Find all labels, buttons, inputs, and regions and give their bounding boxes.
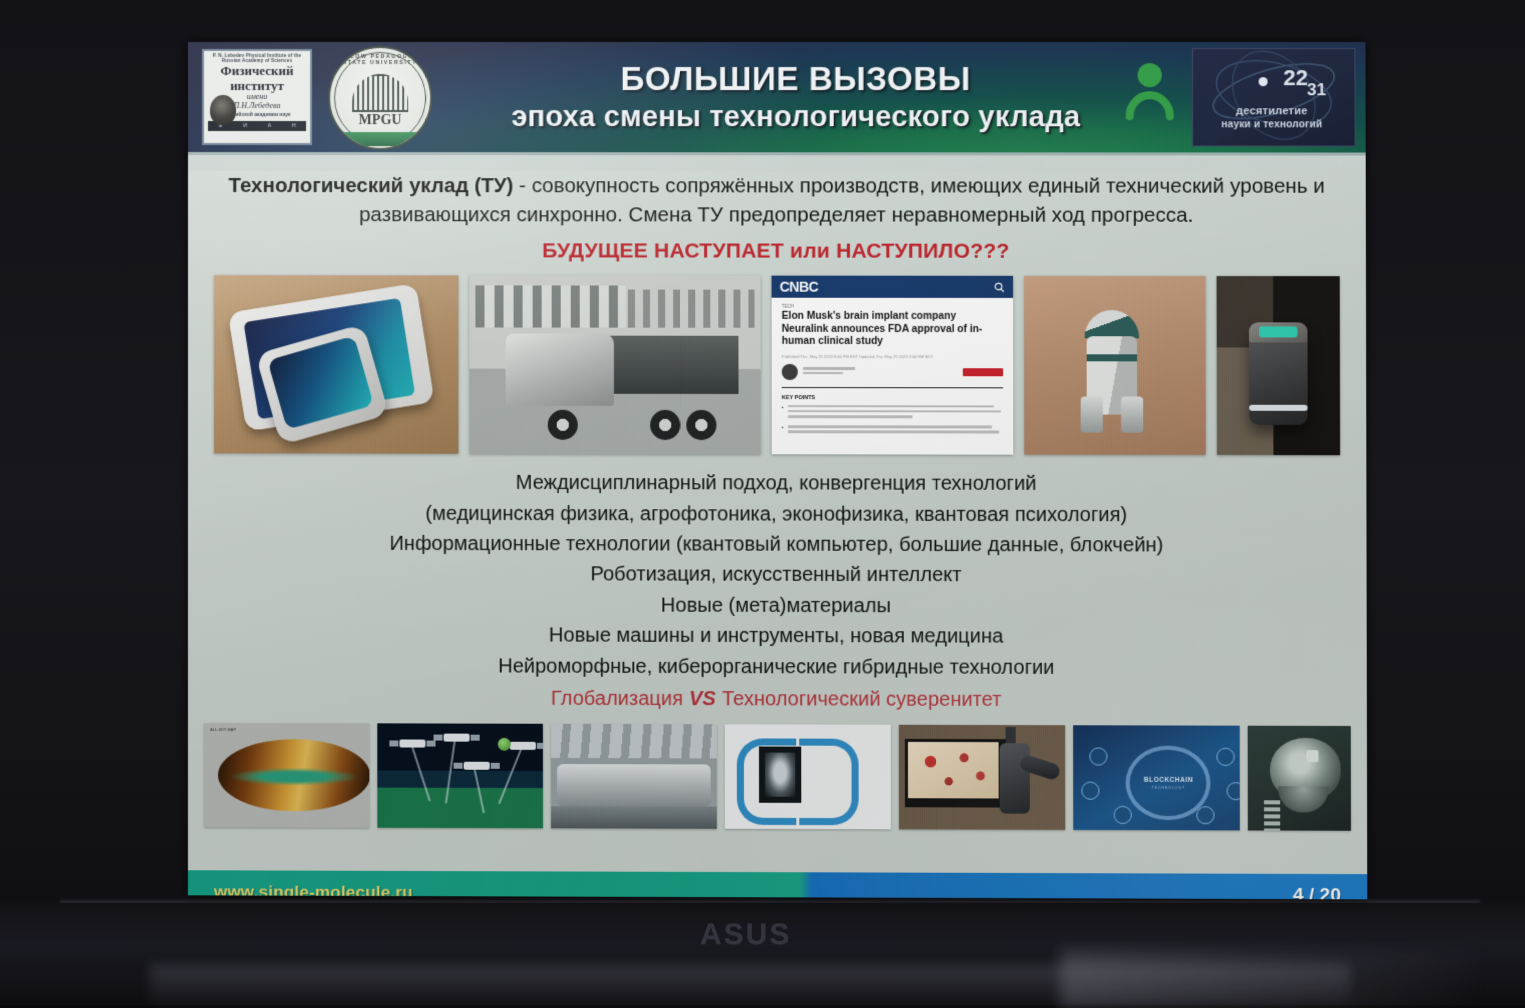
- fian-logo-word3: имени: [247, 92, 268, 101]
- factory-floor: [551, 807, 717, 830]
- truck-cargo-bed: [608, 336, 739, 394]
- slide-page-number: 4 / 20: [1293, 885, 1341, 899]
- building-window-left: [475, 286, 626, 328]
- satellite-network-image: [377, 724, 543, 829]
- cnbc-author-line-2: [803, 372, 843, 375]
- blockchain-subtitle: TECHNOLOGY: [1152, 786, 1185, 790]
- list-item: Нейроморфные, киберорганические гибридны…: [188, 650, 1367, 683]
- autonomous-truck-photo: [469, 276, 760, 455]
- blockchain-node-icon-6: [1197, 806, 1215, 824]
- mpgu-logo-ribbon: [344, 132, 416, 146]
- brain-implant-chip-icon: [1307, 750, 1319, 762]
- blockchain-node-icon-4: [1227, 782, 1240, 800]
- factory-assembly-line-image: [551, 724, 717, 829]
- bullet-dot-icon: ▪: [782, 405, 784, 421]
- fian-logo-word1: Физический: [221, 64, 294, 78]
- top-image-strip: CNBC TECH Elon Musk's brain implant comp…: [188, 275, 1366, 455]
- r2d2-stripe: [1087, 355, 1137, 362]
- skull-spine: [1264, 801, 1280, 831]
- robot-light-strip: [1249, 405, 1308, 411]
- cnbc-logo: CNBC: [780, 279, 819, 295]
- decade-logo-line1: десятилетие: [1193, 105, 1350, 117]
- r2d2-robot-photo: [1024, 276, 1206, 455]
- cnbc-site-header: CNBC: [772, 276, 1013, 298]
- cnbc-timestamp: Published Thu, May 25 2023 8:46 PM EDT U…: [782, 353, 1003, 358]
- slide-title-block: БОЛЬШИЕ ВЫЗОВЫ эпоха смены технологическ…: [438, 61, 1154, 133]
- person-icon: [1125, 60, 1173, 120]
- cnbc-key-point-1: ▪: [782, 405, 1003, 421]
- blockchain-title: BLOCKCHAIN: [1144, 777, 1193, 784]
- cnbc-author-name-block: [803, 367, 958, 376]
- factory-roof: [551, 724, 717, 759]
- asus-brand-logo: ASUS: [700, 918, 840, 958]
- future-question-text: БУДУЩЕЕ НАСТУПАЕТ или НАСТУПИЛО???: [188, 239, 1366, 264]
- watch-live-badge[interactable]: [963, 368, 1003, 376]
- decade-year-end: 31: [1307, 80, 1326, 100]
- cnbc-key-points-label: KEY POINTS: [782, 395, 1003, 401]
- smartwatch-screen: [267, 336, 374, 430]
- earth-globe-icon: [498, 738, 511, 751]
- building-window-right: [628, 290, 755, 328]
- lebedev-portrait-icon: [210, 95, 236, 125]
- fian-logo-word4: П.Н.Лебедева: [234, 101, 281, 110]
- r2d2-leg-right: [1121, 397, 1143, 433]
- fian-institute-logo: P. N. Lebedev Physical Institute of the …: [202, 49, 312, 145]
- definition-paragraph: Технологический уклад (ТУ) - совокупност…: [212, 171, 1342, 230]
- cell-sample-image: [908, 742, 999, 799]
- blockchain-node-icon-1: [1090, 748, 1108, 766]
- search-icon[interactable]: [994, 282, 1005, 293]
- fian-bar-letter-4: Н: [292, 123, 296, 129]
- robot-screen: [1259, 327, 1297, 338]
- cnbc-key-point-1-lines: [788, 405, 1004, 421]
- photographed-scene: ASUS P. N. Lebedev Physical Institute of…: [0, 0, 1525, 1005]
- truck-wheel-front: [548, 410, 578, 440]
- r2d2-leg-left: [1081, 397, 1103, 433]
- slide-header: P. N. Lebedev Physical Institute of the …: [188, 42, 1366, 156]
- decade-logo-dot: [1259, 77, 1268, 86]
- r2d2-head: [1085, 310, 1139, 338]
- slide-body: Технологический уклад (ТУ) - совокупност…: [188, 171, 1367, 899]
- satellite-icon-3: [510, 742, 536, 750]
- decade-of-science-logo: 22 31 десятилетие науки и технологий: [1192, 48, 1356, 146]
- skull-xray-image: [1248, 726, 1351, 831]
- cnbc-neuralink-article[interactable]: CNBC TECH Elon Musk's brain implant comp…: [772, 276, 1014, 455]
- mpgu-logo-arc-text: MOSCOW PEDAGOGICAL STATE UNIVERSITY: [330, 54, 430, 66]
- slide-title-line1: БОЛЬШИЕ ВЫЗОВЫ: [438, 61, 1154, 96]
- decade-logo-line2: науки и технологий: [1193, 119, 1350, 130]
- skull-jaw: [1279, 787, 1330, 813]
- blockchain-node-icon-3: [1082, 782, 1100, 800]
- divider: [782, 387, 1003, 388]
- bullet-dot-icon: ▪: [782, 425, 784, 435]
- fian-logo-top-line: P. N. Lebedev Physical Institute of the …: [206, 53, 308, 63]
- truck-wheel-mid: [650, 410, 680, 440]
- blockchain-graphic-image: BLOCKCHAIN TECHNOLOGY: [1073, 726, 1240, 831]
- xray-machine-image: [725, 725, 891, 830]
- smartphone-smartwatch-photo: [214, 275, 458, 454]
- blockchain-node-icon-5: [1114, 806, 1132, 824]
- cnbc-kicker: TECH: [782, 304, 1003, 309]
- xray-arm-right: [799, 739, 858, 826]
- presentation-slide[interactable]: P. N. Lebedev Physical Institute of the …: [188, 42, 1367, 899]
- signal-beam-2: [445, 742, 456, 804]
- sky-map-caption: ALL-SKY MAP: [210, 727, 236, 732]
- bottom-image-strip: ALL-SKY MAP: [188, 723, 1367, 831]
- mpgu-university-logo: MOSCOW PEDAGOGICAL STATE UNIVERSITY MPGU: [328, 46, 432, 150]
- list-item: Междисциплинарный подход, конвергенция т…: [188, 468, 1366, 501]
- list-item: Роботизация, искусственный интеллект: [188, 559, 1367, 592]
- signal-beam-4: [474, 770, 485, 814]
- slide-footer: www.single-molecule.ru 4 / 20: [188, 870, 1367, 899]
- laptop-base-highlight-right: [1060, 950, 1480, 1008]
- assembly-line: [557, 764, 711, 807]
- delivery-robot-photo: [1217, 276, 1340, 455]
- microscope-image: [899, 725, 1065, 830]
- signal-beam-3: [498, 750, 522, 805]
- cnbc-author-line-1: [803, 367, 855, 370]
- satellite-icon-2: [444, 734, 470, 742]
- decade-year-start: 22: [1283, 65, 1308, 91]
- truck-cab: [506, 334, 614, 406]
- technology-list: Междисциплинарный подход, конвергенция т…: [188, 468, 1367, 717]
- sky-map-ellipse: [218, 739, 369, 812]
- slide-title-line2: эпоха смены технологического уклада: [438, 102, 1154, 133]
- versus-separator: VS: [683, 688, 722, 710]
- blockchain-node-icon-2: [1217, 748, 1235, 766]
- definition-term: Технологический уклад (ТУ): [228, 174, 513, 197]
- list-item: Информационные технологии (квантовый ком…: [188, 528, 1367, 561]
- cmb-sky-map-image: ALL-SKY MAP: [204, 723, 369, 828]
- versus-right-term: Технологический суверенитет: [722, 688, 1002, 711]
- list-item: (медицинская физика, агрофотоника, эконо…: [188, 498, 1367, 531]
- fian-logo-word2: институт: [230, 79, 284, 93]
- signal-beam-1: [412, 748, 431, 802]
- cnbc-byline: [782, 363, 1003, 379]
- truck-wheel-rear: [686, 410, 716, 440]
- cnbc-key-point-2: ▪: [782, 425, 1003, 436]
- avatar: [782, 363, 798, 379]
- decade-orbit-icon: [1193, 49, 1355, 145]
- cnbc-key-point-2-lines: [788, 425, 1004, 436]
- definition-dash: -: [513, 174, 531, 197]
- chest-xray-icon: [765, 753, 795, 797]
- versus-line: ГлобализацияVSТехнологический суверените…: [188, 683, 1367, 717]
- microscope-body: [1000, 743, 1030, 814]
- versus-left-term: Глобализация: [551, 688, 683, 710]
- cnbc-headline: Elon Musk's brain implant company Neural…: [782, 311, 1003, 349]
- fian-bar-letter-2: И: [243, 123, 247, 129]
- list-item: Новые (мета)материалы: [188, 589, 1367, 622]
- list-item: Новые машины и инструменты, новая медици…: [188, 620, 1367, 653]
- fian-bar-letter-3: А: [268, 123, 271, 129]
- satellite-icon-4: [464, 762, 490, 770]
